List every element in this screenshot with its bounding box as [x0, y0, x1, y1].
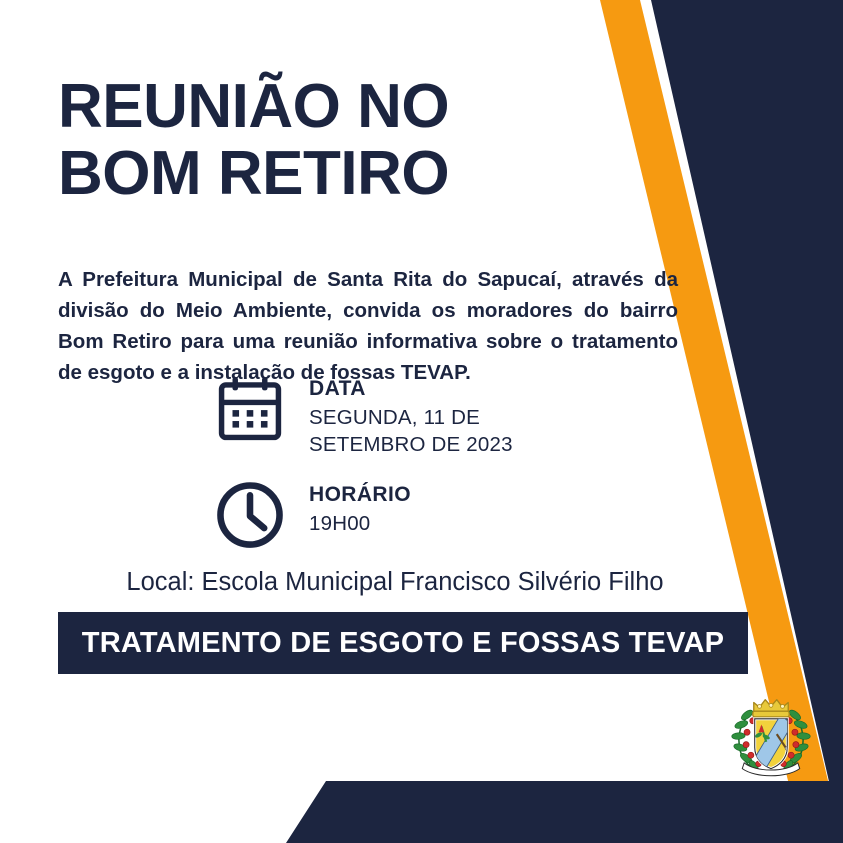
- topic-banner-text: TRATAMENTO DE ESGOTO E FOSSAS TEVAP: [82, 627, 724, 660]
- poster-content: REUNIÃO NO BOM RETIRO A Prefeitura Munic…: [0, 0, 843, 843]
- detail-text-time: HORÁRIO 19H00: [309, 480, 411, 537]
- coat-of-arms-icon: [722, 692, 820, 782]
- location-line: Local: Escola Municipal Francisco Silvér…: [0, 568, 790, 597]
- detail-text-date: DATA SEGUNDA, 11 DE SETEMBRO DE 2023: [309, 374, 513, 458]
- poster-canvas: REUNIÃO NO BOM RETIRO A Prefeitura Munic…: [0, 0, 843, 843]
- detail-value-date: SEGUNDA, 11 DE SETEMBRO DE 2023: [309, 404, 513, 458]
- page-title: REUNIÃO NO BOM RETIRO: [58, 74, 598, 208]
- clock-icon: [215, 480, 285, 550]
- page-title-line-1: REUNIÃO NO: [58, 74, 598, 141]
- event-details: DATA SEGUNDA, 11 DE SETEMBRO DE 2023 HOR…: [215, 374, 635, 572]
- detail-row-time: HORÁRIO 19H00: [215, 480, 635, 550]
- calendar-icon: [215, 374, 285, 444]
- detail-label-time: HORÁRIO: [309, 483, 411, 507]
- page-title-line-2: BOM RETIRO: [58, 141, 598, 208]
- detail-value-date-line-1: SEGUNDA, 11 DE: [309, 404, 513, 431]
- topic-banner: TRATAMENTO DE ESGOTO E FOSSAS TEVAP: [58, 612, 748, 674]
- detail-value-time: 19H00: [309, 510, 411, 537]
- detail-value-time-line-1: 19H00: [309, 510, 411, 537]
- detail-row-date: DATA SEGUNDA, 11 DE SETEMBRO DE 2023: [215, 374, 635, 458]
- detail-label-date: DATA: [309, 377, 513, 401]
- detail-value-date-line-2: SETEMBRO DE 2023: [309, 431, 513, 458]
- intro-paragraph: A Prefeitura Municipal de Santa Rita do …: [58, 264, 678, 389]
